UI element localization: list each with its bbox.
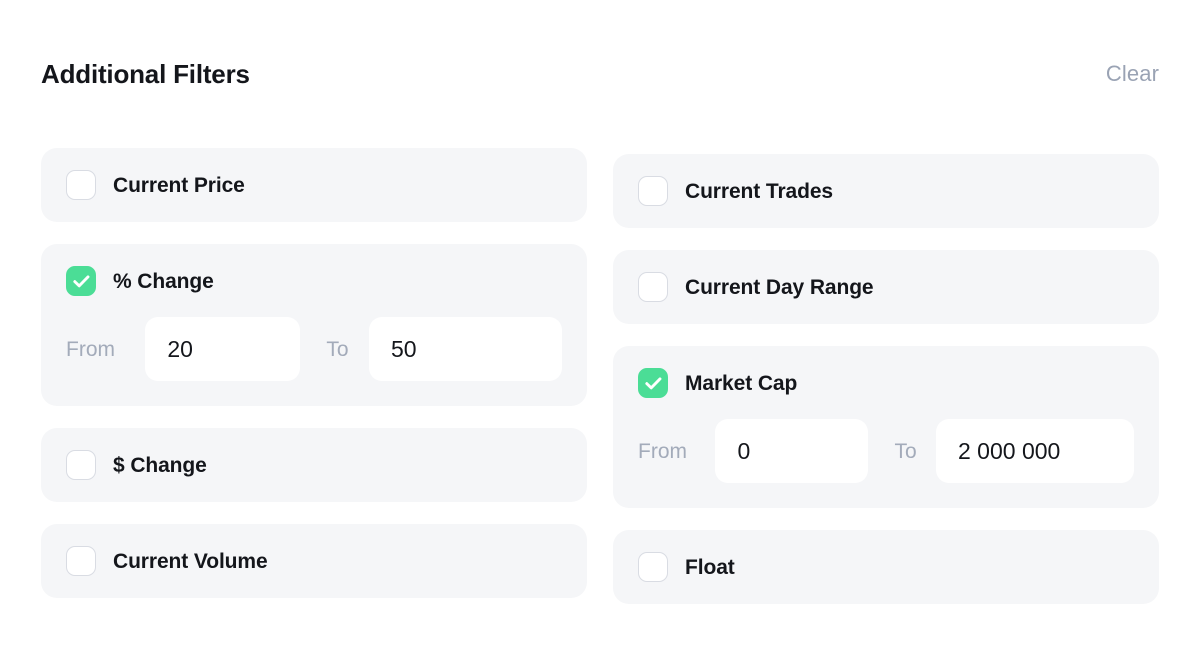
- range-from-input-percent-change[interactable]: [145, 317, 300, 381]
- filter-label-percent-change: % Change: [113, 271, 214, 292]
- checkmark-icon: [645, 377, 662, 390]
- checkmark-icon: [73, 275, 90, 288]
- filter-row-header: Current Volume: [66, 545, 562, 577]
- filter-row-current-day-range[interactable]: Current Day Range: [613, 250, 1159, 324]
- filter-row-header: Market Cap: [638, 367, 1134, 399]
- filter-label-current-trades: Current Trades: [685, 181, 833, 202]
- checkbox-current-day-range[interactable]: [638, 272, 668, 302]
- panel-header: Additional Filters Clear: [41, 52, 1159, 96]
- filter-row-current-trades[interactable]: Current Trades: [613, 154, 1159, 228]
- checkbox-current-volume[interactable]: [66, 546, 96, 576]
- filter-row-market-cap[interactable]: Market CapFromTo: [613, 346, 1159, 508]
- filter-row-current-volume[interactable]: Current Volume: [41, 524, 587, 598]
- filters-column-right: Current TradesCurrent Day RangeMarket Ca…: [613, 154, 1159, 626]
- filter-row-header: $ Change: [66, 449, 562, 481]
- range-to-input-market-cap[interactable]: [936, 419, 1134, 483]
- filter-row-header: Float: [638, 551, 1134, 583]
- range-controls-percent-change: FromTo: [66, 317, 562, 381]
- filter-label-current-volume: Current Volume: [113, 551, 268, 572]
- filter-row-header: Current Trades: [638, 175, 1134, 207]
- checkbox-percent-change[interactable]: [66, 266, 96, 296]
- range-to-label: To: [326, 339, 369, 360]
- range-from-label: From: [638, 441, 715, 462]
- filter-row-percent-change[interactable]: % ChangeFromTo: [41, 244, 587, 406]
- filter-label-dollar-change: $ Change: [113, 455, 207, 476]
- filter-label-current-price: Current Price: [113, 175, 245, 196]
- filter-row-header: Current Day Range: [638, 271, 1134, 303]
- page-title: Additional Filters: [41, 61, 250, 87]
- range-to-input-percent-change[interactable]: [369, 317, 562, 381]
- checkbox-float[interactable]: [638, 552, 668, 582]
- filter-label-current-day-range: Current Day Range: [685, 277, 874, 298]
- range-from-input-market-cap[interactable]: [715, 419, 868, 483]
- range-from-label: From: [66, 339, 145, 360]
- checkbox-current-price[interactable]: [66, 170, 96, 200]
- checkbox-current-trades[interactable]: [638, 176, 668, 206]
- filter-row-float[interactable]: Float: [613, 530, 1159, 604]
- filter-label-market-cap: Market Cap: [685, 373, 797, 394]
- filter-label-float: Float: [685, 557, 735, 578]
- filter-row-header: % Change: [66, 265, 562, 297]
- filters-column-left: Current Price% ChangeFromTo$ ChangeCurre…: [41, 148, 587, 620]
- filter-row-header: Current Price: [66, 169, 562, 201]
- filter-row-dollar-change[interactable]: $ Change: [41, 428, 587, 502]
- filter-row-current-price[interactable]: Current Price: [41, 148, 587, 222]
- checkbox-market-cap[interactable]: [638, 368, 668, 398]
- checkbox-dollar-change[interactable]: [66, 450, 96, 480]
- additional-filters-panel: Additional Filters Clear Current Price% …: [0, 0, 1200, 658]
- clear-filters-link[interactable]: Clear: [1106, 63, 1159, 85]
- range-to-label: To: [894, 441, 936, 462]
- range-controls-market-cap: FromTo: [638, 419, 1134, 483]
